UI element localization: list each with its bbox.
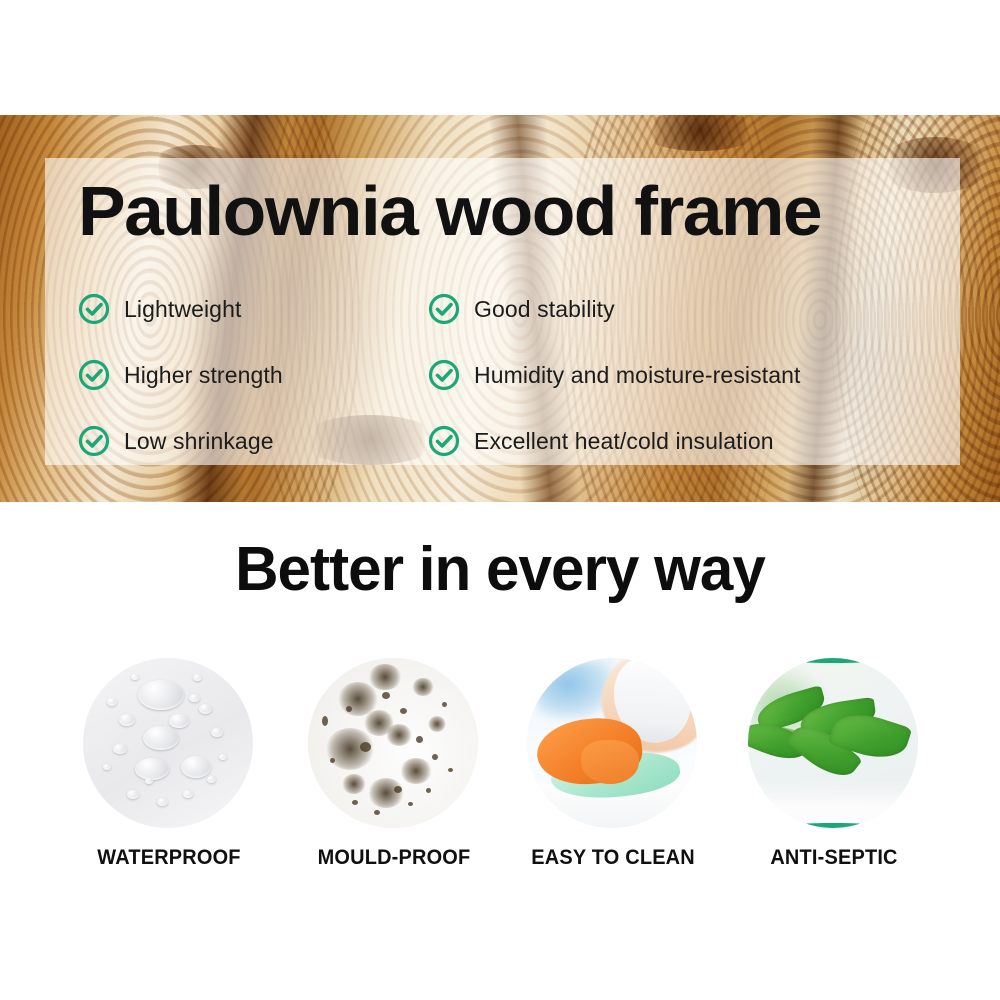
circle-caption: MOULD-PROOF: [312, 846, 475, 870]
gloved-hand-wiping-photo: [527, 658, 697, 828]
feature-item-lightweight: Lightweight: [78, 276, 428, 342]
feature-circles: WATERPROOF: [0, 658, 1000, 868]
check-circle-icon: [78, 359, 110, 391]
feature-item-higher-strength: Higher strength: [78, 342, 428, 408]
water-droplets-photo: [83, 658, 253, 828]
feature-label: Lightweight: [124, 296, 241, 323]
check-circle-icon: [78, 293, 110, 325]
feature-label: Good stability: [474, 296, 615, 323]
banner-content: Paulownia wood frame Lightweight Good st…: [0, 0, 1000, 502]
circle-caption: EASY TO CLEAN: [531, 846, 694, 870]
green-leaves-photo: [748, 658, 918, 828]
feature-list: Lightweight Good stability Higher streng…: [78, 276, 928, 474]
check-circle-icon: [428, 293, 460, 325]
check-circle-icon: [428, 359, 460, 391]
feature-label: Higher strength: [124, 362, 283, 389]
circle-caption: ANTI-SEPTIC: [752, 846, 915, 870]
circle-caption: WATERPROOF: [87, 846, 250, 870]
feature-item-humidity-resistant: Humidity and moisture-resistant: [428, 342, 928, 408]
feature-label: Humidity and moisture-resistant: [474, 362, 801, 389]
feature-label: Excellent heat/cold insulation: [474, 428, 774, 455]
feature-item-low-shrinkage: Low shrinkage: [78, 408, 428, 474]
feature-item-heat-cold-insulation: Excellent heat/cold insulation: [428, 408, 928, 474]
feature-circle-mould-proof: MOULD-PROOF: [308, 658, 480, 870]
banner-title: Paulownia wood frame: [78, 176, 821, 246]
feature-circle-easy-to-clean: EASY TO CLEAN: [527, 658, 699, 870]
feature-circle-anti-septic: ANTI-SEPTIC: [748, 658, 920, 870]
feature-item-good-stability: Good stability: [428, 276, 928, 342]
mould-spots-photo: [308, 658, 478, 828]
feature-circle-waterproof: WATERPROOF: [83, 658, 255, 870]
feature-label: Low shrinkage: [124, 428, 274, 455]
check-circle-icon: [78, 425, 110, 457]
check-circle-icon: [428, 425, 460, 457]
section-heading: Better in every way: [15, 534, 985, 605]
